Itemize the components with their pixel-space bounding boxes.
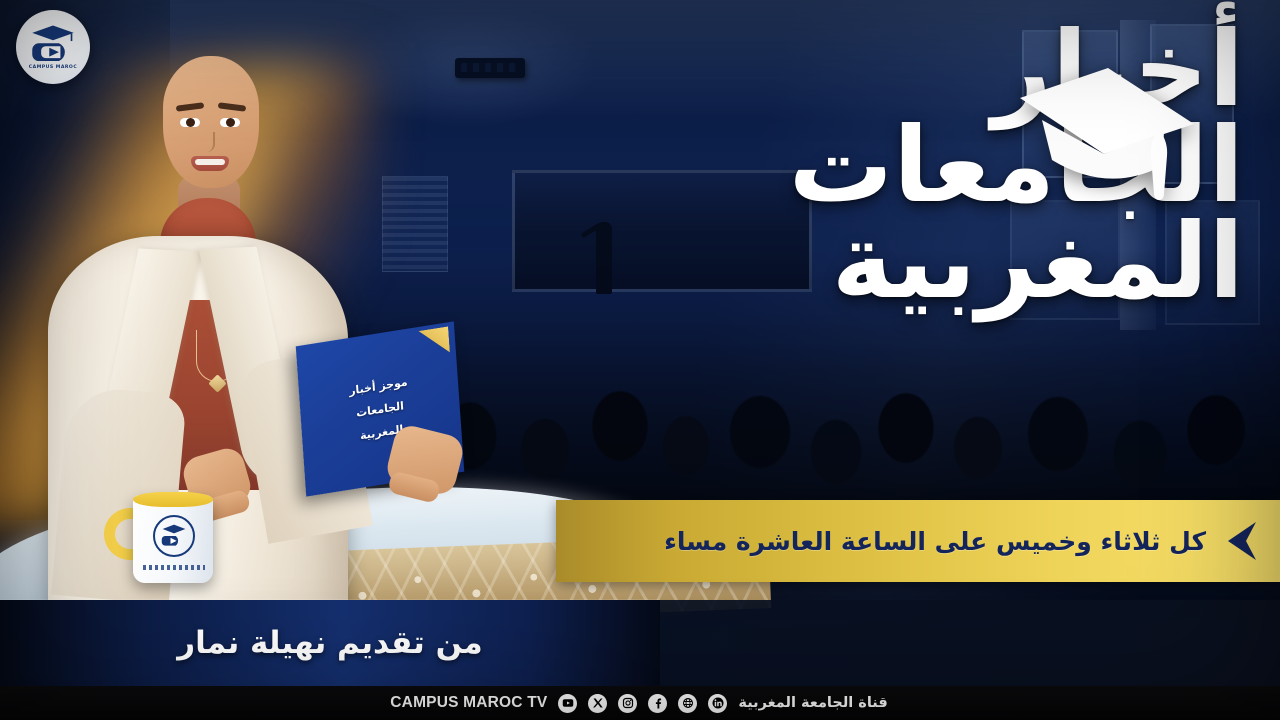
graduation-cap-icon bbox=[1012, 62, 1202, 212]
name-bar-extension bbox=[660, 600, 1280, 686]
mug-rim bbox=[133, 492, 213, 507]
mug-logo-icon bbox=[153, 515, 195, 557]
branded-mug bbox=[133, 495, 213, 583]
mouth bbox=[191, 156, 229, 171]
eye-left bbox=[180, 118, 200, 127]
footer-bar: CAMPUS MAROC TV قناة الجامعة المغربية bbox=[0, 686, 1280, 720]
left-chevron-icon bbox=[1224, 520, 1258, 562]
presenter-credit-bar: من تقديم نهيلة نمار bbox=[0, 600, 660, 686]
channel-logo[interactable]: CAMPUS MAROC bbox=[16, 10, 90, 84]
x-twitter-icon[interactable] bbox=[588, 694, 607, 713]
mug-wordmark bbox=[143, 565, 205, 570]
youtube-icon[interactable] bbox=[558, 694, 577, 713]
presenter-credit-text: من تقديم نهيلة نمار bbox=[177, 625, 482, 661]
nose bbox=[203, 132, 215, 152]
facebook-icon[interactable] bbox=[648, 694, 667, 713]
broadcast-thumbnail: موجز أخبار الجامعات المغربية CAMPUS MARO… bbox=[0, 0, 1280, 720]
folder-line-2: الجامعات bbox=[356, 399, 404, 420]
globe-icon[interactable] bbox=[678, 694, 697, 713]
footer-channel-name: CAMPUS MAROC TV bbox=[390, 694, 547, 712]
folder-line-1: موجز أخبار bbox=[349, 375, 408, 397]
title-line-3: المغربية bbox=[614, 208, 1244, 314]
schedule-banner: كل ثلاثاء وخميس على الساعة العاشرة مساء bbox=[556, 500, 1280, 582]
linkedin-icon[interactable] bbox=[708, 694, 727, 713]
eye-right bbox=[220, 118, 240, 127]
campus-maroc-mark-icon bbox=[29, 24, 77, 64]
instagram-icon[interactable] bbox=[618, 694, 637, 713]
schedule-text: كل ثلاثاء وخميس على الساعة العاشرة مساء bbox=[664, 527, 1206, 556]
channel-logo-wordmark: CAMPUS MAROC bbox=[29, 65, 77, 70]
footer-arabic-name: قناة الجامعة المغربية bbox=[738, 695, 887, 711]
